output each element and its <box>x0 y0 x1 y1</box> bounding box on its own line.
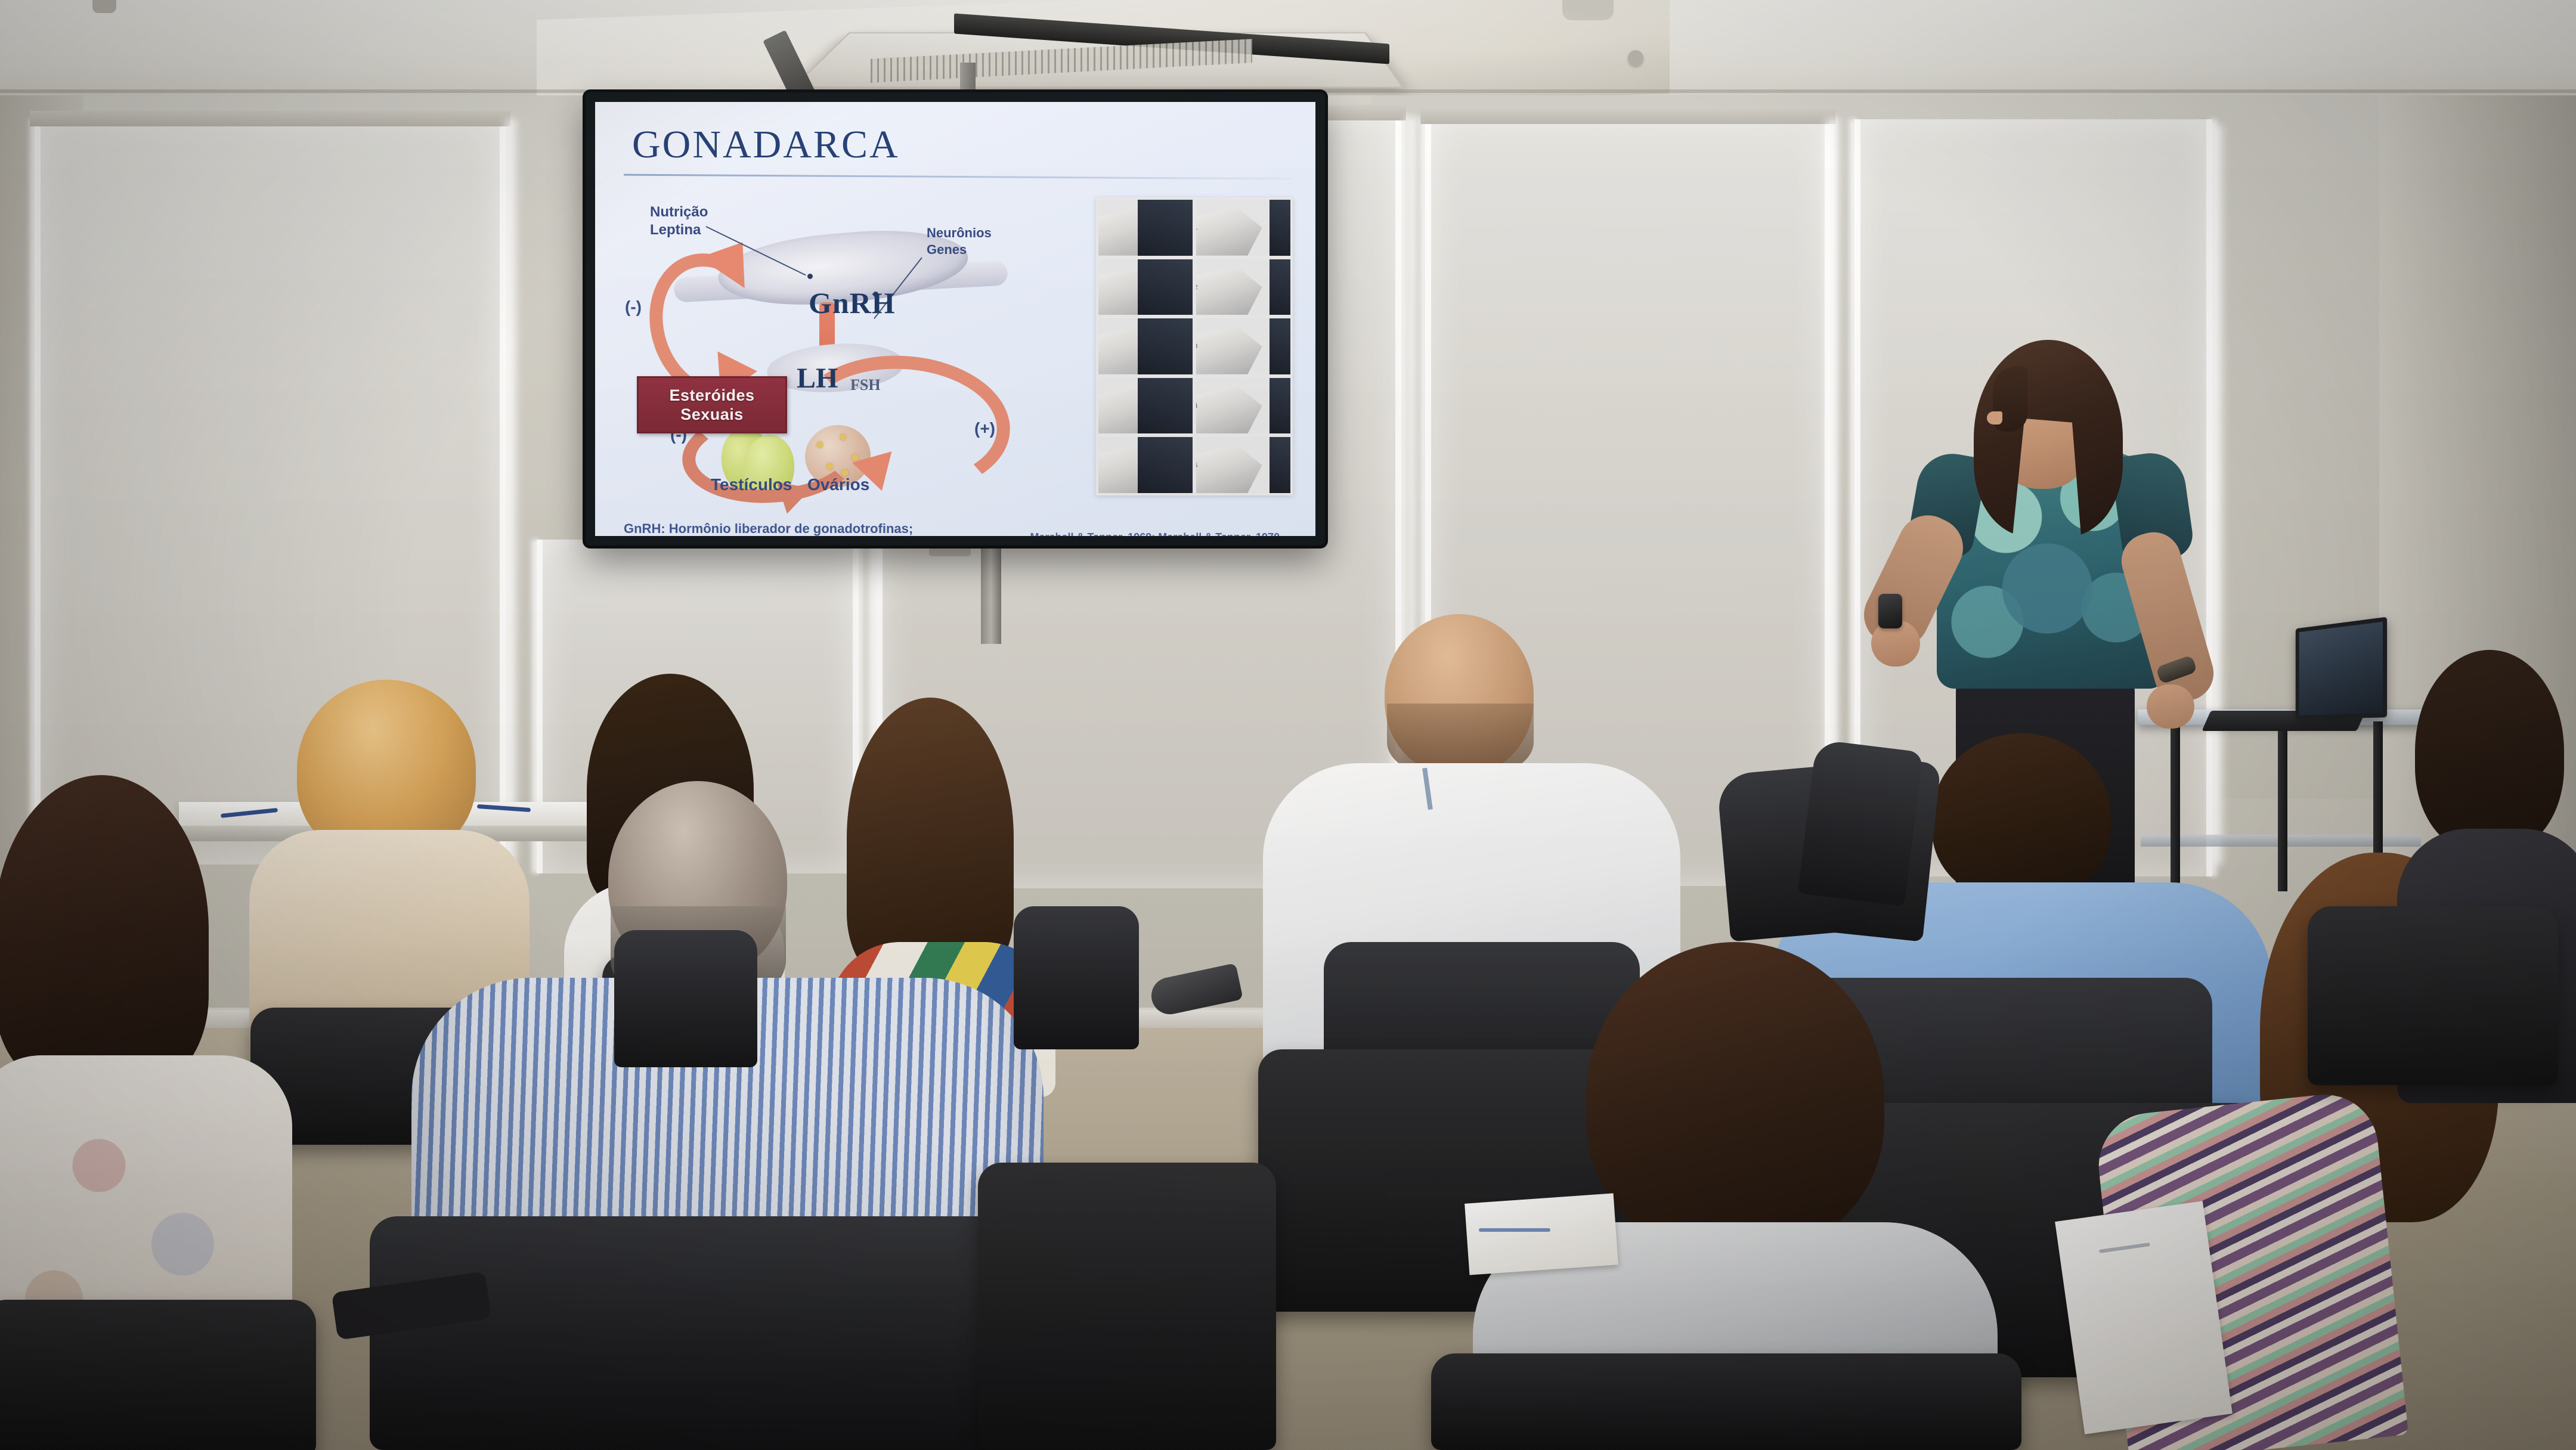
chair[interactable] <box>0 1300 316 1450</box>
tv-bezel <box>586 92 1325 546</box>
chair[interactable] <box>2308 906 2558 1085</box>
sprinkler-icon <box>1628 50 1643 66</box>
paper-text-line <box>1479 1228 1550 1232</box>
blind-headrail-left <box>30 111 510 126</box>
audience-hair-bob <box>1586 942 1884 1252</box>
blind-headrail-right <box>1420 109 1835 124</box>
lecture-room-photo: GONADARCA <box>0 0 2576 1450</box>
smoke-detector-icon <box>92 0 116 13</box>
presentation-display[interactable]: GONADARCA <box>586 92 1325 546</box>
chair-back[interactable] <box>1014 906 1139 1049</box>
audience-hair-far-right <box>2415 650 2564 853</box>
chair-back[interactable] <box>614 930 757 1067</box>
audience-hair-short-dark <box>1932 733 2111 900</box>
paper-on-chair[interactable] <box>1465 1193 1618 1275</box>
laptop-screen[interactable] <box>2296 617 2387 720</box>
handout-paper[interactable] <box>2055 1201 2233 1434</box>
chair-back[interactable] <box>370 1216 1061 1450</box>
presentation-clicker[interactable] <box>1878 594 1902 628</box>
tv-mount-foot <box>929 544 971 556</box>
chair-back[interactable] <box>1798 739 1923 906</box>
chair[interactable] <box>978 1163 1276 1450</box>
chair[interactable] <box>1431 1353 2021 1450</box>
presenter-profile-nose <box>1987 411 2002 425</box>
audience-hair-dark-long <box>0 775 209 1085</box>
ceiling-speaker-icon <box>1562 0 1614 20</box>
presenter-hand-right <box>2147 684 2194 729</box>
